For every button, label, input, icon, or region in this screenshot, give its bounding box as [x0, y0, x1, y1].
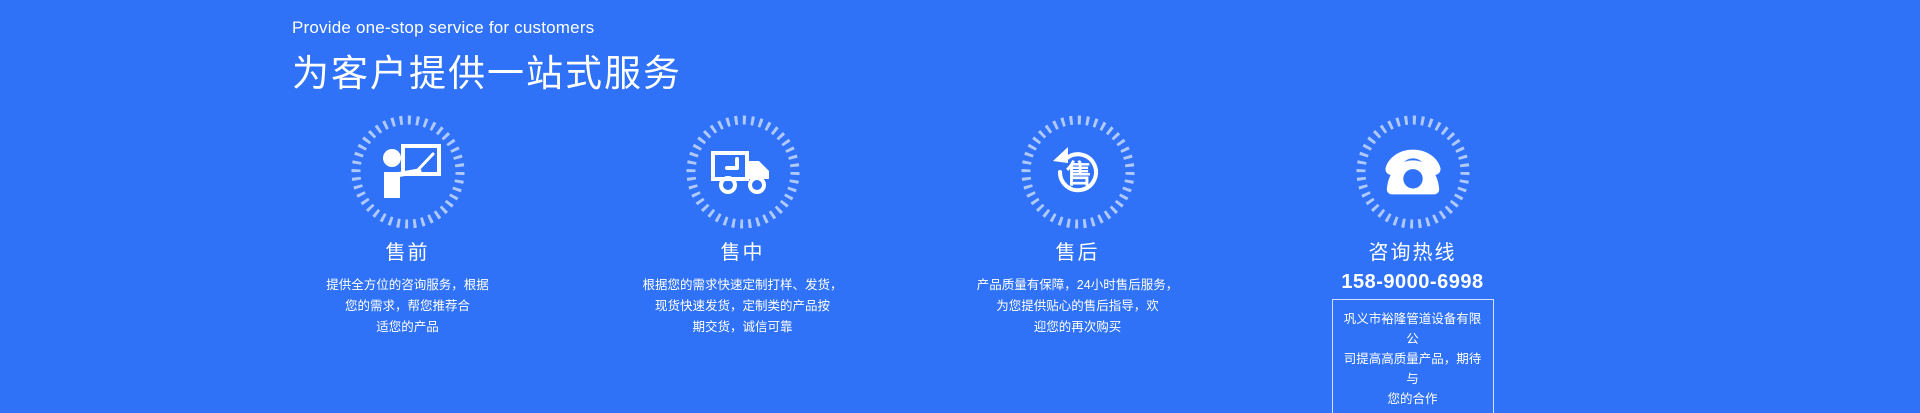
desc-line: 期交货，诚信可靠: [628, 317, 858, 338]
banner-header: Provide one-stop service for customers 为…: [292, 16, 682, 98]
service-column-hotline[interactable]: 咨询热线 158-9000-6998 巩义市裕隆管道设备有限公 司提高高质量产品…: [1245, 112, 1580, 413]
desc-line: 适您的产品: [293, 317, 523, 338]
banner-title: 为客户提供一站式服务: [292, 50, 682, 98]
service-column-insale[interactable]: 售中 根据您的需求快速定制打样、发货， 现货快速发货，定制类的产品按 期交货，诚…: [575, 112, 910, 338]
service-title-presale: 售前: [386, 238, 430, 268]
desc-line: 根据您的需求快速定制打样、发货，: [628, 275, 858, 296]
delivery-truck-icon: [710, 139, 776, 205]
desc-line: 提供全方位的咨询服务，根据: [293, 275, 523, 296]
desc-line: 产品质量有保障，24小时售后服务，: [963, 275, 1193, 296]
service-title-aftersale: 售后: [1056, 238, 1100, 268]
service-columns: 售前 提供全方位的咨询服务，根据 您的需求，帮您推荐合 适您的产品: [240, 112, 1580, 413]
desc-line: 迎您的再次购买: [963, 317, 1193, 338]
svg-text:售: 售: [1065, 159, 1091, 190]
hotline-phone-number[interactable]: 158-9000-6998: [1341, 269, 1483, 295]
banner-subtitle: Provide one-stop service for customers: [292, 16, 682, 40]
service-title-insale: 售中: [721, 238, 765, 268]
desc-line: 现货快速发货，定制类的产品按: [628, 296, 858, 317]
company-info-line: 您的合作: [1341, 389, 1485, 409]
after-sale-refresh-icon: 售: [1045, 139, 1111, 205]
desc-line: 您的需求，帮您推荐合: [293, 296, 523, 317]
icon-ring-insale: [683, 112, 803, 232]
company-info-line: 司提高高质量产品，期待与: [1341, 349, 1485, 389]
company-info-line: 巩义市裕隆管道设备有限公: [1341, 309, 1485, 349]
service-column-aftersale[interactable]: 售 售后 产品质量有保障，24小时售后服务， 为您提供贴心的售后指导，欢 迎您的…: [910, 112, 1245, 338]
service-title-hotline: 咨询热线: [1369, 238, 1457, 268]
icon-ring-aftersale: 售: [1018, 112, 1138, 232]
telephone-icon: [1380, 139, 1446, 205]
service-desc-aftersale: 产品质量有保障，24小时售后服务， 为您提供贴心的售后指导，欢 迎您的再次购买: [963, 275, 1193, 338]
service-banner: Provide one-stop service for customers 为…: [0, 0, 1920, 413]
service-desc-presale: 提供全方位的咨询服务，根据 您的需求，帮您推荐合 适您的产品: [293, 275, 523, 338]
presenter-whiteboard-icon: [375, 139, 441, 205]
service-desc-insale: 根据您的需求快速定制打样、发货， 现货快速发货，定制类的产品按 期交货，诚信可靠: [628, 275, 858, 338]
desc-line: 为您提供贴心的售后指导，欢: [963, 296, 1193, 317]
service-column-presale[interactable]: 售前 提供全方位的咨询服务，根据 您的需求，帮您推荐合 适您的产品: [240, 112, 575, 338]
icon-ring-presale: [348, 112, 468, 232]
company-info-box: 巩义市裕隆管道设备有限公 司提高高质量产品，期待与 您的合作: [1332, 299, 1494, 413]
icon-ring-hotline: [1353, 112, 1473, 232]
